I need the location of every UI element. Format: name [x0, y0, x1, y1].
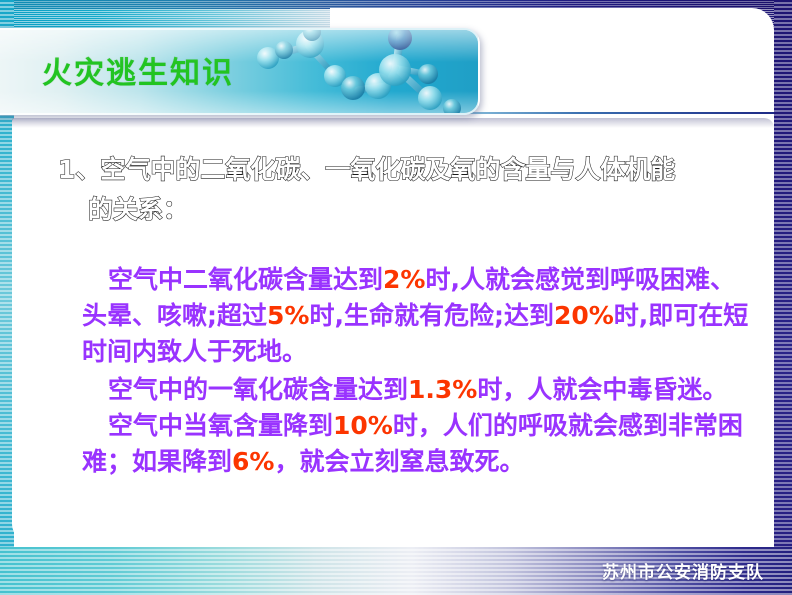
highlight-value: 1.3%: [408, 375, 477, 404]
presentation-slide: 火灾逃生知识 1、空气中的二氧化碳、一氧化碳及氧的含量与人体机能 的关系： 空气…: [0, 0, 792, 595]
highlight-value: 2%: [383, 265, 425, 294]
footer-organization: 苏州市公安消防支队: [602, 558, 764, 583]
paragraph-co: 空气中的一氧化碳含量达到1.3%时，人就会中毒昏迷。: [82, 372, 752, 408]
paragraph-indent: [82, 375, 108, 404]
heading-line-1: 1、空气中的二氧化碳、一氧化碳及氧的含量与人体机能: [58, 155, 675, 184]
paragraph-text: 空气中的一氧化碳含量达到: [108, 375, 408, 404]
paragraph-text: 空气中二氧化碳含量达到: [108, 265, 383, 294]
highlight-value: 5%: [267, 301, 309, 330]
paragraph-oxygen: 空气中当氧含量降到10%时，人们的呼吸就会感到非常困难；如果降到6%，就会立刻窒…: [82, 408, 752, 480]
paragraph-indent: [82, 411, 108, 440]
top-right-divider: [452, 112, 774, 114]
highlight-value: 20%: [554, 301, 614, 330]
paragraph-text: 时,生命就有危险;达到: [309, 301, 554, 330]
paragraph-text: 空气中当氧含量降到: [108, 411, 333, 440]
heading-line-2: 的关系：: [58, 190, 748, 230]
paragraph-indent: [82, 265, 108, 294]
content-panel-top-shadow: [12, 118, 774, 128]
paragraph-text: ，就会立刻窒息致死。: [274, 447, 524, 476]
paragraph-text: 时，人就会中毒昏迷。: [477, 375, 727, 404]
slide-title: 火灾逃生知识: [42, 48, 234, 92]
right-decor-band: [774, 0, 792, 595]
paragraph-co2: 空气中二氧化碳含量达到2%时,人就会感觉到呼吸困难、头晕、咳嗽;超过5%时,生命…: [82, 262, 752, 370]
highlight-value: 10%: [333, 411, 393, 440]
title-banner: 火灾逃生知识: [0, 28, 480, 115]
highlight-value: 6%: [232, 447, 274, 476]
slide-heading: 1、空气中的二氧化碳、一氧化碳及氧的含量与人体机能 的关系：: [58, 150, 748, 230]
molecule-icon: [240, 28, 470, 115]
